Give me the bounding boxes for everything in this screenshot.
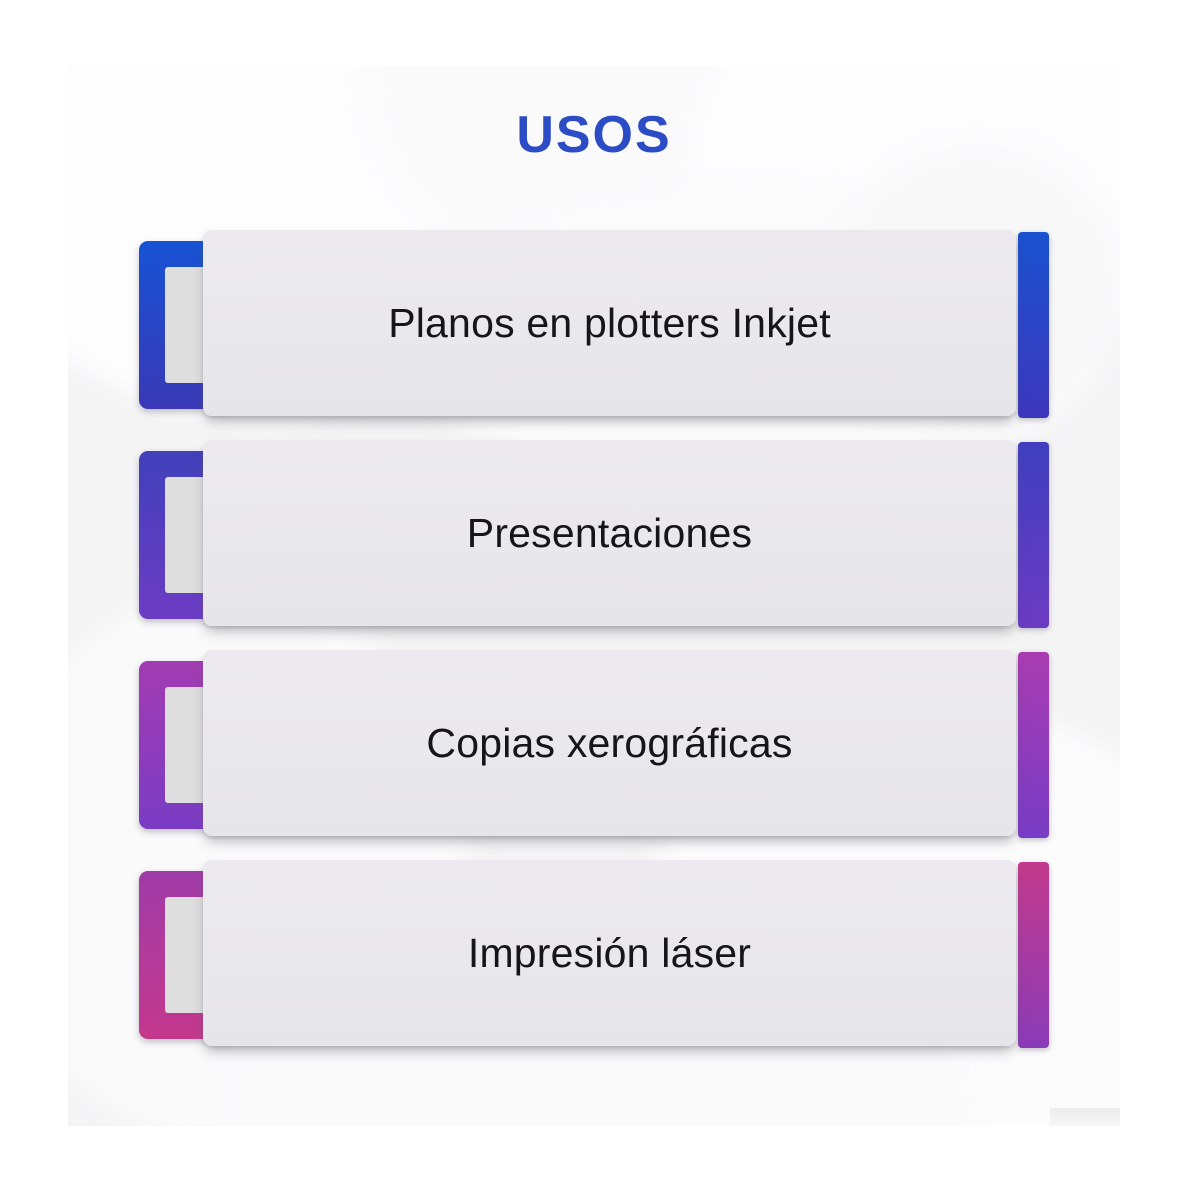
usage-card[interactable]: Impresión láser [203,860,1016,1046]
usage-card[interactable]: Copias xerográficas [203,650,1016,836]
right-accent-bar [1018,442,1049,628]
usage-card-label: Presentaciones [467,513,752,554]
list-item[interactable]: Presentaciones [68,440,1120,630]
slide-frame: USOS Planos en plotters Inkjet Presentac… [0,0,1200,1200]
list-item[interactable]: Impresión láser [68,860,1120,1050]
usage-card-label: Planos en plotters Inkjet [388,303,831,344]
right-accent-bar [1018,652,1049,838]
right-accent-bar [1018,862,1049,1048]
usage-card[interactable]: Planos en plotters Inkjet [203,230,1016,416]
right-accent-bar [1018,232,1049,418]
corner-shade [1050,1108,1120,1126]
slide-canvas: USOS Planos en plotters Inkjet Presentac… [68,66,1120,1126]
list-item[interactable]: Copias xerográficas [68,650,1120,840]
usage-card-label: Impresión láser [468,933,751,974]
usage-card-label: Copias xerográficas [426,723,792,764]
usage-card[interactable]: Presentaciones [203,440,1016,626]
list-item[interactable]: Planos en plotters Inkjet [68,230,1120,420]
page-title: USOS [68,105,1120,165]
